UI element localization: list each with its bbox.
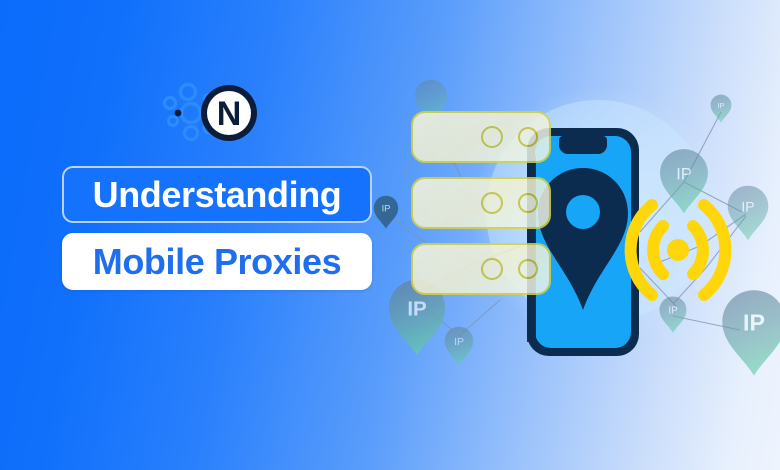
svg-text:IP: IP: [382, 202, 391, 213]
svg-text:IP: IP: [676, 164, 692, 183]
ip-pin: IP: [660, 149, 708, 213]
server-rack: [412, 178, 550, 228]
ip-pin: [415, 80, 447, 123]
network-lines: [386, 108, 746, 336]
server-rack-group: [412, 112, 550, 294]
ip-pin-group-left: IP IP IP: [374, 80, 474, 365]
smartphone: [527, 128, 639, 356]
svg-text:IP: IP: [407, 298, 426, 321]
server-led: [519, 194, 537, 212]
svg-text:IP: IP: [454, 337, 464, 348]
backdrop-circle: [486, 100, 710, 324]
headline-line-1-text: Understanding: [93, 177, 342, 213]
ip-pin: IP: [659, 296, 686, 332]
ip-pin: IP: [711, 95, 732, 123]
server-led: [519, 260, 537, 278]
svg-text:IP: IP: [743, 310, 765, 336]
server-spine: [527, 156, 536, 342]
phone-notch: [559, 136, 607, 154]
headline: Understanding Mobile Proxies: [62, 166, 372, 290]
ip-pin: IP: [389, 280, 445, 356]
server-led: [482, 127, 502, 147]
map-location-pin: [538, 168, 628, 310]
server-rack: [412, 244, 550, 294]
server-rack: [412, 112, 550, 162]
svg-text:IP: IP: [717, 101, 724, 110]
ip-pin: IP: [374, 196, 398, 229]
nodes-n-logo-icon: N: [158, 76, 264, 150]
ip-pin: IP: [722, 290, 780, 375]
svg-text:N: N: [217, 95, 242, 133]
svg-text:IP: IP: [741, 198, 754, 214]
headline-line-1: Understanding: [62, 166, 372, 223]
server-led: [519, 128, 537, 146]
wifi-signal-waves: [631, 205, 726, 295]
headline-line-2: Mobile Proxies: [62, 233, 372, 290]
server-led: [482, 193, 502, 213]
banner-root: IP IP IP IP IP IP: [0, 0, 780, 470]
ip-pin: IP: [445, 327, 474, 366]
svg-text:IP: IP: [668, 306, 678, 317]
backdrop-glow-circle: [470, 85, 730, 345]
signal-center-dot: [667, 239, 689, 261]
pin-hole: [566, 195, 600, 229]
ip-pin-group-right: IP IP IP IP IP: [659, 95, 780, 376]
headline-line-2-text: Mobile Proxies: [93, 244, 341, 280]
ip-pin: IP: [728, 186, 769, 241]
site-logo[interactable]: N: [158, 76, 264, 150]
server-led: [482, 259, 502, 279]
